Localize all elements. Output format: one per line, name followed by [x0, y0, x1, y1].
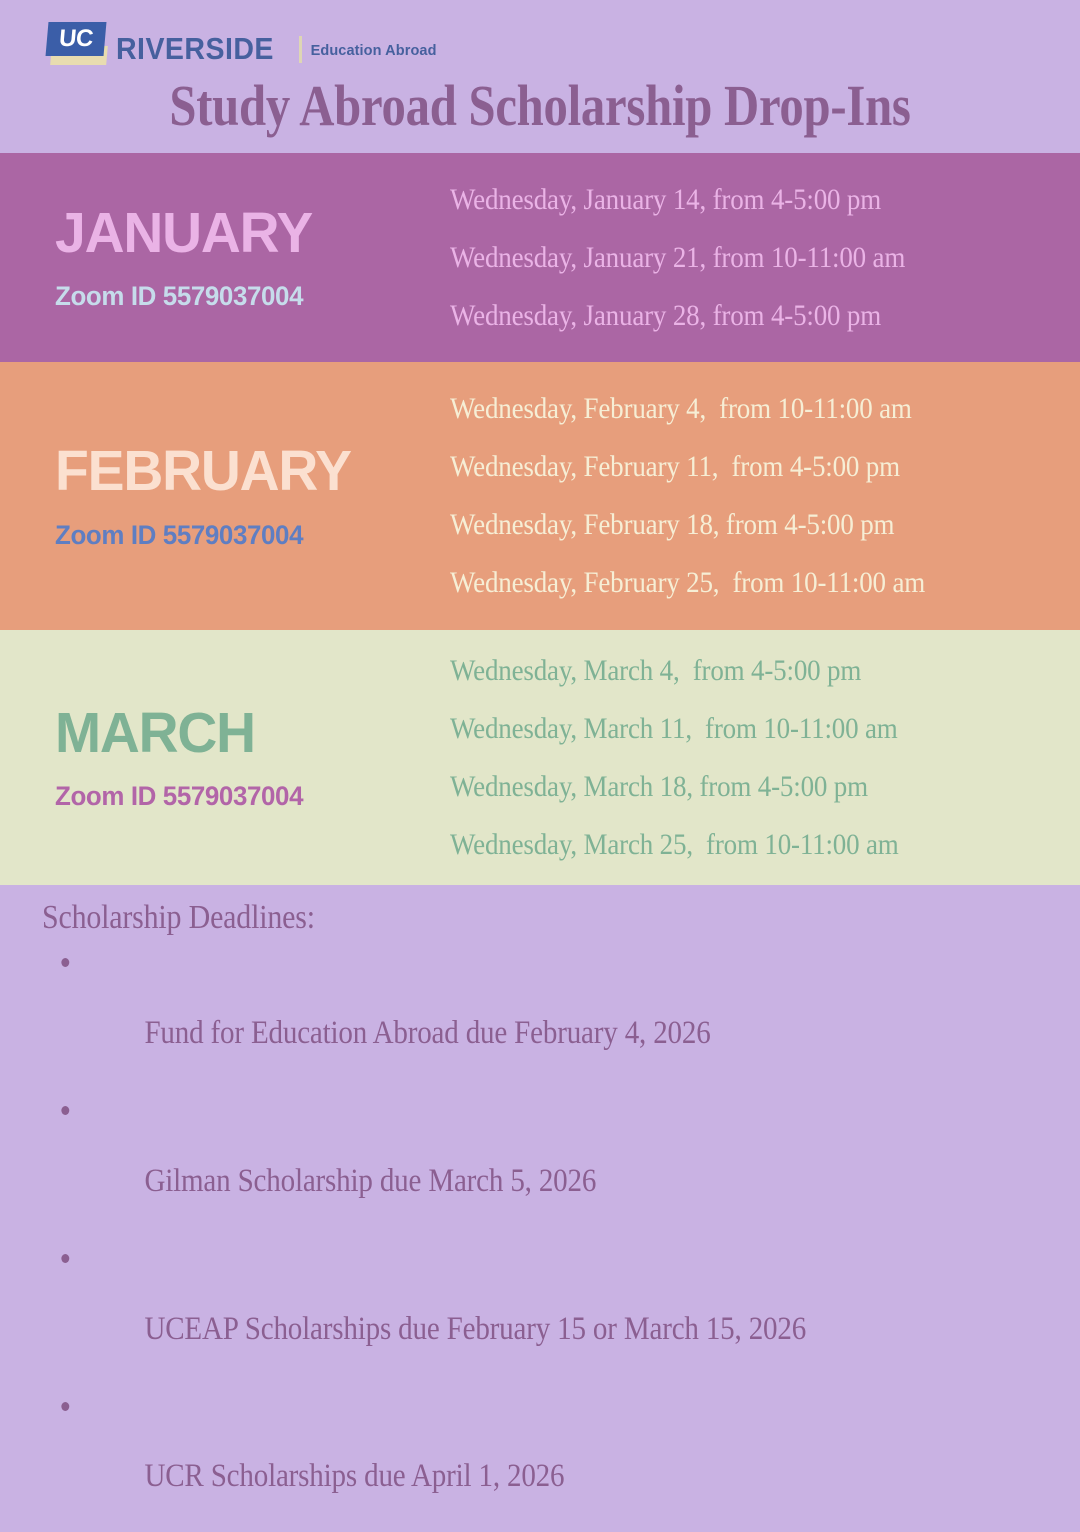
- month-name-january: JANUARY: [55, 203, 438, 263]
- session-item: Wednesday, February 25, from 10-11:00 am: [450, 566, 1017, 600]
- month-info-january: JANUARY Zoom ID 5579037004: [55, 203, 450, 312]
- session-item: Wednesday, March 25, from 10-11:00 am: [450, 828, 1017, 862]
- list-item: UCEAP Scholarships due February 15 or Ma…: [42, 1237, 955, 1385]
- session-item: Wednesday, February 4, from 10-11:00 am: [450, 392, 1017, 426]
- month-info-march: MARCH Zoom ID 5579037004: [55, 703, 450, 812]
- scholarship-drop-ins-poster: UC RIVERSIDE Education Abroad Study Abro…: [0, 0, 1080, 1080]
- deadline-text: Fund for Education Abroad due February 4…: [144, 1015, 710, 1051]
- session-item: Wednesday, March 18, from 4-5:00 pm: [450, 770, 1017, 804]
- month-name-march: MARCH: [55, 703, 438, 763]
- session-item: Wednesday, February 18, from 4-5:00 pm: [450, 508, 1017, 542]
- deadlines-list: Fund for Education Abroad due February 4…: [42, 941, 1080, 1532]
- logo-wordmark: RIVERSIDE: [116, 32, 274, 66]
- bullet-icon: [61, 1402, 69, 1411]
- deadline-text: Gilman Scholarship due March 5, 2026: [144, 1163, 596, 1199]
- zoom-id-march: Zoom ID 5579037004: [55, 781, 434, 812]
- list-item: UCR Scholarships due April 1, 2026: [42, 1384, 955, 1532]
- session-item: Wednesday, March 11, from 10-11:00 am: [450, 712, 1017, 746]
- month-name-february: FEBRUARY: [55, 441, 438, 501]
- session-list-january: Wednesday, January 14, from 4-5:00 pm We…: [450, 171, 1080, 345]
- bullet-icon: [61, 1106, 69, 1115]
- page-title: Study Abroad Scholarship Drop-Ins: [86, 72, 993, 139]
- month-info-february: FEBRUARY Zoom ID 5579037004: [55, 441, 450, 550]
- ucr-education-abroad-logo: UC RIVERSIDE Education Abroad: [47, 24, 437, 66]
- month-band-march: MARCH Zoom ID 5579037004 Wednesday, Marc…: [0, 630, 1080, 885]
- session-item: Wednesday, March 4, from 4-5:00 pm: [450, 654, 1017, 688]
- list-item: Fund for Education Abroad due February 4…: [42, 941, 955, 1089]
- session-item: Wednesday, February 11, from 4-5:00 pm: [450, 450, 1017, 484]
- zoom-id-january: Zoom ID 5579037004: [55, 281, 434, 312]
- session-item: Wednesday, January 28, from 4-5:00 pm: [450, 299, 1017, 333]
- bullet-icon: [61, 958, 69, 967]
- session-item: Wednesday, January 21, from 10-11:00 am: [450, 241, 1017, 275]
- uc-logo-mark-icon: UC: [47, 22, 109, 66]
- session-item: Wednesday, January 14, from 4-5:00 pm: [450, 183, 1017, 217]
- month-band-january: JANUARY Zoom ID 5579037004 Wednesday, Ja…: [0, 153, 1080, 362]
- logo-uc-text: UC: [46, 22, 107, 56]
- logo-subtitle: Education Abroad: [311, 36, 437, 66]
- list-item: Gilman Scholarship due March 5, 2026: [42, 1089, 955, 1237]
- session-list-march: Wednesday, March 4, from 4-5:00 pm Wedne…: [450, 642, 1080, 874]
- deadlines-heading: Scholarship Deadlines:: [42, 899, 955, 937]
- scholarship-deadlines-section: Scholarship Deadlines: Fund for Educatio…: [0, 885, 1080, 1532]
- poster-header: UC RIVERSIDE Education Abroad Study Abro…: [0, 0, 1080, 153]
- bullet-icon: [61, 1254, 69, 1263]
- zoom-id-february: Zoom ID 5579037004: [55, 520, 434, 551]
- month-band-february: FEBRUARY Zoom ID 5579037004 Wednesday, F…: [0, 362, 1080, 630]
- deadline-text: UCEAP Scholarships due February 15 or Ma…: [144, 1311, 806, 1347]
- session-list-february: Wednesday, February 4, from 10-11:00 am …: [450, 380, 1080, 612]
- deadline-text: UCR Scholarships due April 1, 2026: [144, 1458, 564, 1494]
- logo-divider: [299, 36, 302, 63]
